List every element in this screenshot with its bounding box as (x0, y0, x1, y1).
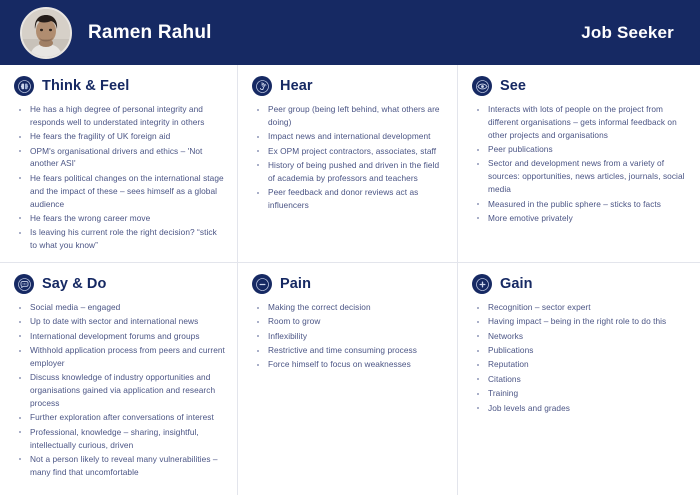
list-item: Social media – engaged (14, 301, 225, 314)
list-item: Publications (472, 344, 688, 357)
list-item: Peer publications (472, 143, 688, 156)
list-item: Is leaving his current role the right de… (14, 226, 225, 252)
section-gain: Gain Recognition – sector expert Having … (458, 263, 700, 495)
list-item: International development forums and gro… (14, 330, 225, 343)
section-see: See Interacts with lots of people on the… (458, 65, 700, 263)
list-item: Job levels and grades (472, 402, 688, 415)
section-header-pain: Pain (252, 274, 445, 294)
list-item: Force himself to focus on weaknesses (252, 358, 445, 371)
list-item: He fears the wrong career move (14, 212, 225, 225)
list-item: Restrictive and time consuming process (252, 344, 445, 357)
list-item: Discuss knowledge of industry opportunit… (14, 371, 225, 410)
brain-icon (14, 76, 34, 96)
list-item: Further exploration after conversations … (14, 411, 225, 424)
minus-circle-icon (252, 274, 272, 294)
section-title-see: See (500, 79, 526, 94)
section-pain: Pain Making the correct decision Room to… (238, 263, 458, 495)
section-header-say-do: Say & Do (14, 274, 225, 294)
list-item: Training (472, 387, 688, 400)
point-list-pain: Making the correct decision Room to grow… (252, 301, 445, 371)
persona-name: Ramen Rahul (88, 22, 212, 44)
section-think-feel: Think & Feel He has a high degree of per… (0, 65, 238, 263)
eye-icon (472, 76, 492, 96)
list-item: Peer feedback and donor reviews act as i… (252, 186, 445, 212)
user-avatar-photo (20, 7, 72, 59)
section-title-think-feel: Think & Feel (42, 79, 129, 94)
list-item: Having impact – being in the right role … (472, 315, 688, 328)
list-item: Impact news and international developmen… (252, 130, 445, 143)
section-header-gain: Gain (472, 274, 688, 294)
list-item: Citations (472, 373, 688, 386)
point-list-gain: Recognition – sector expert Having impac… (472, 301, 688, 414)
speech-bubble-icon (14, 274, 34, 294)
list-item: Recognition – sector expert (472, 301, 688, 314)
section-header-hear: Hear (252, 76, 445, 96)
list-item: Measured in the public sphere – sticks t… (472, 198, 688, 211)
list-item: Withhold application process from peers … (14, 344, 225, 370)
list-item: Sector and development news from a varie… (472, 157, 688, 196)
list-item: Interacts with lots of people on the pro… (472, 103, 688, 142)
list-item: Ex OPM project contractors, associates, … (252, 145, 445, 158)
list-item: More emotive privately (472, 212, 688, 225)
section-say-do: Say & Do Social media – engaged Up to da… (0, 263, 238, 495)
list-item: Professional, knowledge – sharing, insig… (14, 426, 225, 452)
section-title-say-do: Say & Do (42, 277, 106, 292)
list-item: He has a high degree of personal integri… (14, 103, 225, 129)
point-list-hear: Peer group (being left behind, what othe… (252, 103, 445, 212)
list-item: Room to grow (252, 315, 445, 328)
point-list-say-do: Social media – engaged Up to date with s… (14, 301, 225, 479)
list-item: Making the correct decision (252, 301, 445, 314)
section-title-gain: Gain (500, 277, 533, 292)
section-title-pain: Pain (280, 277, 311, 292)
empathy-map-grid: Think & Feel He has a high degree of per… (0, 65, 700, 495)
list-item: Not a person likely to reveal many vulne… (14, 453, 225, 479)
list-item: Reputation (472, 358, 688, 371)
empathy-map-board: Ramen Rahul Job Seeker Think & Feel He h… (0, 0, 700, 495)
section-hear: Hear Peer group (being left behind, what… (238, 65, 458, 263)
list-item: Up to date with sector and international… (14, 315, 225, 328)
list-item: Inflexibility (252, 330, 445, 343)
list-item: Peer group (being left behind, what othe… (252, 103, 445, 129)
list-item: He fears the fragility of UK foreign aid (14, 130, 225, 143)
point-list-think-feel: He has a high degree of personal integri… (14, 103, 225, 252)
section-title-hear: Hear (280, 79, 313, 94)
point-list-see: Interacts with lots of people on the pro… (472, 103, 688, 225)
list-item: He fears political changes on the intern… (14, 172, 225, 211)
list-item: History of being pushed and driven in th… (252, 159, 445, 185)
persona-role: Job Seeker (581, 23, 682, 43)
plus-circle-icon (472, 274, 492, 294)
section-header-see: See (472, 76, 688, 96)
list-item: Networks (472, 330, 688, 343)
persona-header: Ramen Rahul Job Seeker (0, 0, 700, 65)
section-header-think-feel: Think & Feel (14, 76, 225, 96)
ear-icon (252, 76, 272, 96)
list-item: OPM's organisational drivers and ethics … (14, 145, 225, 171)
